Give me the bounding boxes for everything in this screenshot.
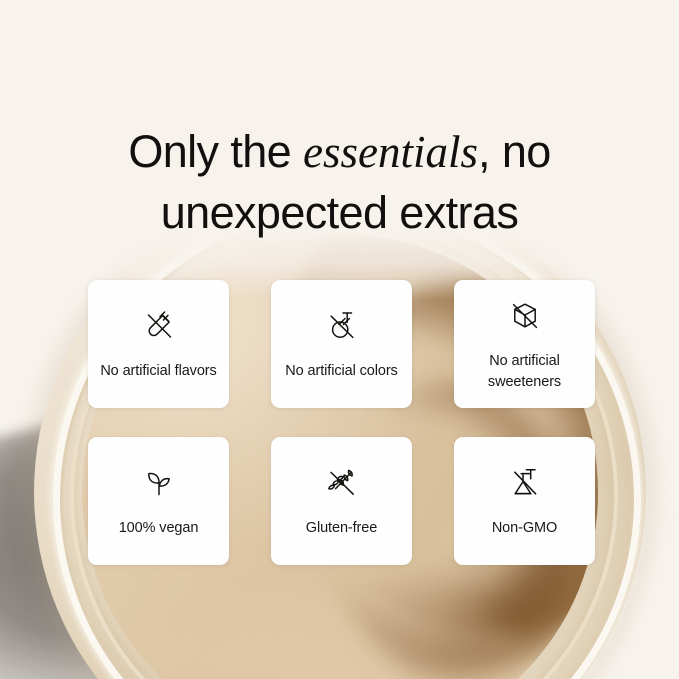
feature-card-grid: No artificial flavors No artificial colo…: [88, 280, 596, 565]
no-wheat-icon: [323, 460, 361, 506]
headline-part-one: Only the: [128, 126, 303, 177]
feature-card-label: No artificial sweeteners: [462, 351, 587, 394]
promo-graphic: Only the essentials, no unexpected extra…: [0, 0, 679, 679]
feature-card-no-artificial-flavors: No artificial flavors: [88, 280, 229, 408]
feature-card-100-percent-vegan: 100% vegan: [88, 437, 229, 565]
headline-emphasis: essentials: [303, 127, 478, 177]
no-sugar-cube-icon: [506, 293, 544, 339]
no-flask-icon: [323, 303, 361, 349]
no-erlenmeyer-flask-icon: [506, 460, 544, 506]
feature-card-label: Gluten-free: [306, 518, 377, 539]
feature-card-non-gmo: Non-GMO: [454, 437, 595, 565]
sprout-icon: [140, 460, 178, 506]
page-title: Only the essentials, no unexpected extra…: [0, 122, 679, 243]
feature-card-label: 100% vegan: [119, 518, 199, 539]
no-test-tube-icon: [140, 303, 178, 349]
feature-card-no-artificial-colors: No artificial colors: [271, 280, 412, 408]
feature-card-no-artificial-sweeteners: No artificial sweeteners: [454, 280, 595, 408]
feature-card-gluten-free: Gluten-free: [271, 437, 412, 565]
feature-card-label: No artificial flavors: [100, 361, 216, 382]
feature-card-label: No artificial colors: [285, 361, 397, 382]
feature-card-label: Non-GMO: [492, 518, 557, 539]
